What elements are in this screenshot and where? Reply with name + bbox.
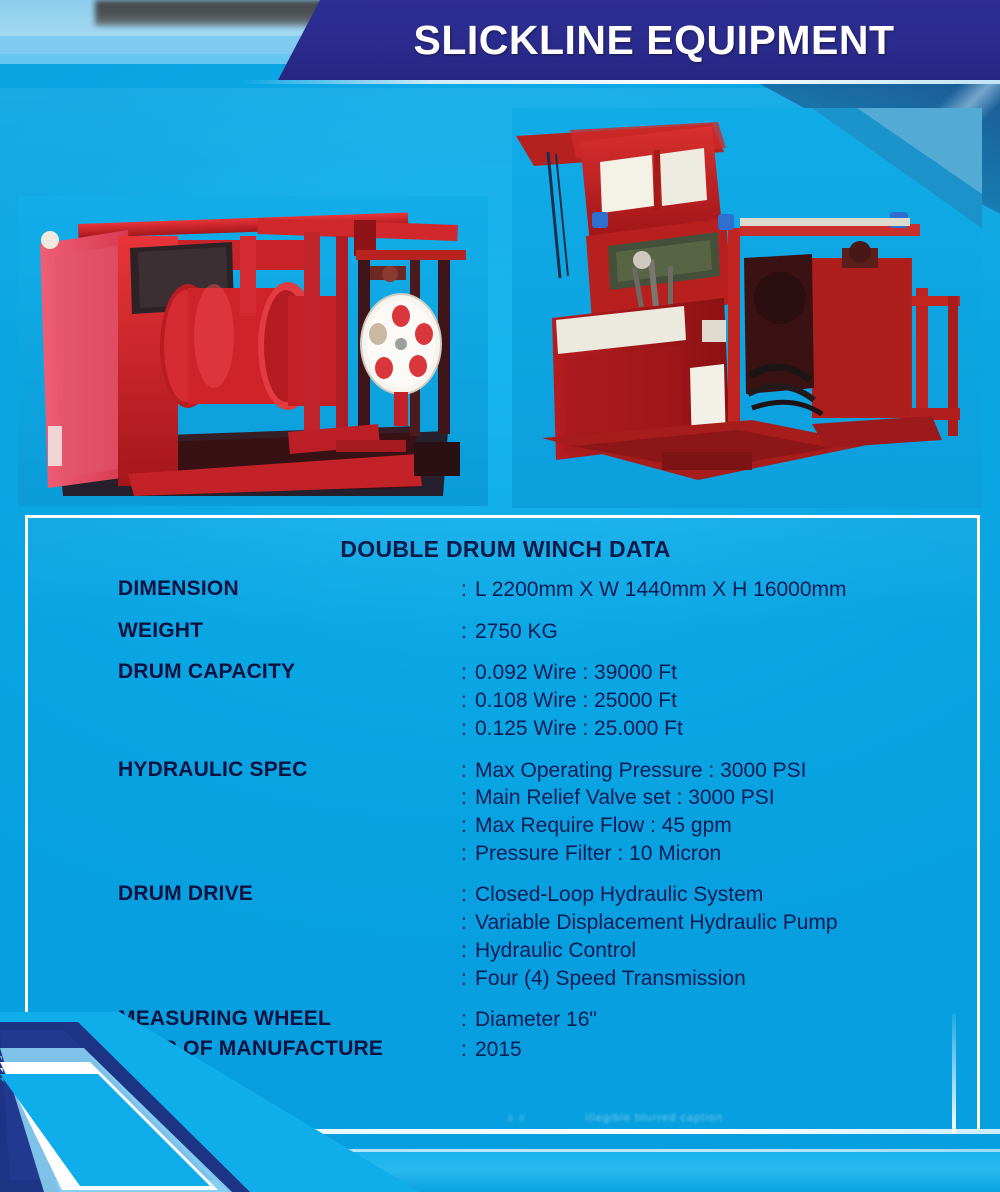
spec-value-text: Closed-Loop Hydraulic System: [475, 883, 763, 906]
spec-value-line: :Diameter 16": [461, 1006, 978, 1034]
bottom-color-band: [0, 1152, 1000, 1192]
spec-value-line: :Closed-Loop Hydraulic System: [461, 881, 978, 909]
colon-separator: :: [461, 840, 475, 868]
colon-separator: :: [461, 687, 475, 715]
spec-values: :Max Operating Pressure : 3000 PSI :Main…: [461, 757, 978, 868]
colon-separator: :: [461, 937, 475, 965]
spec-value-line: :Main Relief Valve set : 3000 PSI: [461, 784, 978, 812]
bottom-frame-line-lower: [0, 1149, 1000, 1152]
colon-separator: :: [461, 757, 475, 785]
spec-value-text: Four (4) Speed Transmission: [475, 967, 746, 990]
spec-row-weight: WEIGHT :2750 KG: [118, 618, 978, 646]
spec-value-text: 0.125 Wire : 25.000 Ft: [475, 717, 683, 740]
spec-row-dimension: DIMENSION :L 2200mm X W 1440mm X H 16000…: [118, 576, 978, 604]
spec-values: :2750 KG: [461, 618, 978, 646]
spec-row-measuring-wheel: MEASURING WHEEL :Diameter 16": [118, 1006, 978, 1034]
spec-value-line: :L 2200mm X W 1440mm X H 16000mm: [461, 576, 978, 604]
footer-watermark-main: illegible blurred caption: [585, 1112, 723, 1124]
colon-separator: :: [461, 659, 475, 687]
spec-label: WEIGHT: [118, 618, 461, 644]
header-banner: SLICKLINE EQUIPMENT: [278, 0, 1000, 80]
spec-value-line: :0.092 Wire : 39000 Ft: [461, 659, 978, 687]
poster-page: SLICKLINE EQUIPMENT: [0, 0, 1000, 1192]
spec-value-line: :0.125 Wire : 25.000 Ft: [461, 715, 978, 743]
spec-label: DRUM CAPACITY: [118, 659, 461, 685]
spec-rows: DIMENSION :L 2200mm X W 1440mm X H 16000…: [118, 576, 978, 1078]
colon-separator: :: [461, 1006, 475, 1034]
spec-value-text: Pressure Filter : 10 Micron: [475, 842, 721, 865]
spec-value-text: 0.092 Wire : 39000 Ft: [475, 661, 677, 684]
colon-separator: :: [461, 618, 475, 646]
spec-row-drum-capacity: DRUM CAPACITY :0.092 Wire : 39000 Ft :0.…: [118, 659, 978, 742]
spec-label: DRUM DRIVE: [118, 881, 461, 907]
spec-value-text: Diameter 16": [475, 1008, 597, 1031]
spec-panel: DOUBLE DRUM WINCH DATA DIMENSION :L 2200…: [25, 515, 980, 1133]
spec-value-text: Hydraulic Control: [475, 939, 636, 962]
spec-value-text: 2750 KG: [475, 620, 558, 643]
spec-value-line: :Pressure Filter : 10 Micron: [461, 840, 978, 868]
spec-label: DIMENSION: [118, 576, 461, 602]
spec-label: HYDRAULIC SPEC: [118, 757, 461, 783]
page-title: SLICKLINE EQUIPMENT: [278, 0, 1000, 80]
footer-watermark-small: a a: [507, 1112, 525, 1124]
spec-value-line: :0.108 Wire : 25000 Ft: [461, 687, 978, 715]
colon-separator: :: [461, 965, 475, 993]
spec-value-line: :Max Operating Pressure : 3000 PSI: [461, 757, 978, 785]
colon-separator: :: [461, 812, 475, 840]
winch-cabin-illustration: [512, 108, 982, 508]
winch-cabin-unit-photo: [512, 108, 982, 508]
spec-value-text: Max Require Flow : 45 gpm: [475, 814, 732, 837]
spec-label: YEAR OF MANUFACTURE: [118, 1036, 461, 1062]
footer-watermark: a aillegible blurred caption: [380, 1112, 850, 1124]
spec-row-hydraulic-spec: HYDRAULIC SPEC :Max Operating Pressure :…: [118, 757, 978, 868]
colon-separator: :: [461, 1036, 475, 1064]
bottom-right-vertical-line: [952, 1014, 956, 1134]
spec-value-line: :2015: [461, 1036, 978, 1064]
winch-illustration: [18, 196, 488, 506]
spec-value-text: Max Operating Pressure : 3000 PSI: [475, 759, 807, 782]
spec-values: :Diameter 16": [461, 1006, 978, 1034]
spec-value-text: L 2200mm X W 1440mm X H 16000mm: [475, 578, 847, 601]
colon-separator: :: [461, 576, 475, 604]
double-drum-winch-photo: [18, 196, 488, 506]
colon-separator: :: [461, 715, 475, 743]
spec-value-text: Variable Displacement Hydraulic Pump: [475, 911, 838, 934]
colon-separator: :: [461, 909, 475, 937]
spec-value-text: Main Relief Valve set : 3000 PSI: [475, 786, 775, 809]
spec-values: :2015: [461, 1036, 978, 1064]
bottom-frame-line-upper: [0, 1129, 1000, 1134]
spec-value-text: 2015: [475, 1038, 522, 1061]
spec-row-year-of-manufacture: YEAR OF MANUFACTURE :2015: [118, 1036, 978, 1064]
spec-value-line: :Variable Displacement Hydraulic Pump: [461, 909, 978, 937]
spec-values: :0.092 Wire : 39000 Ft :0.108 Wire : 250…: [461, 659, 978, 742]
colon-separator: :: [461, 784, 475, 812]
spec-values: :L 2200mm X W 1440mm X H 16000mm: [461, 576, 978, 604]
colon-separator: :: [461, 881, 475, 909]
spec-value-line: :Four (4) Speed Transmission: [461, 965, 978, 993]
spec-values: :Closed-Loop Hydraulic System :Variable …: [461, 881, 978, 992]
spec-label: MEASURING WHEEL: [118, 1006, 461, 1032]
spec-value-line: :Hydraulic Control: [461, 937, 978, 965]
spec-value-line: :Max Require Flow : 45 gpm: [461, 812, 978, 840]
spec-row-drum-drive: DRUM DRIVE :Closed-Loop Hydraulic System…: [118, 881, 978, 992]
panel-title: DOUBLE DRUM WINCH DATA: [28, 536, 983, 563]
spec-value-text: 0.108 Wire : 25000 Ft: [475, 689, 677, 712]
spec-value-line: :2750 KG: [461, 618, 978, 646]
